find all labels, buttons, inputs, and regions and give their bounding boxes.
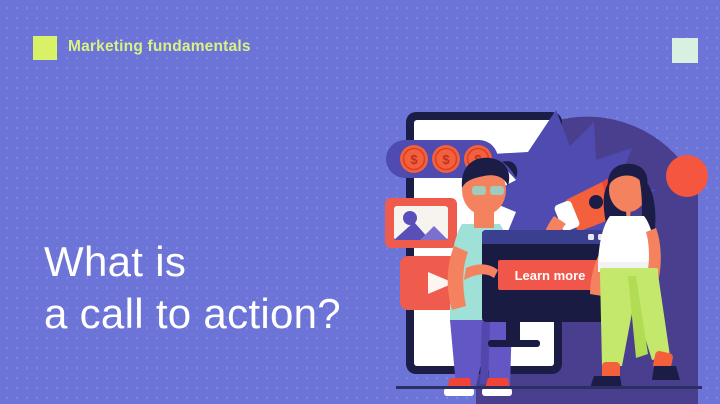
- slide-header: Marketing fundamentals: [0, 0, 720, 92]
- slide-canvas: $ $ $: [0, 0, 720, 404]
- eyebrow-swatch: [33, 36, 57, 60]
- svg-text:$: $: [410, 152, 418, 167]
- ground-line: [396, 386, 702, 389]
- call-to-action-illustration: $ $ $: [370, 70, 720, 404]
- svg-text:$: $: [442, 152, 450, 167]
- learn-more-button-label: Learn more: [515, 268, 586, 283]
- accent-circle: [666, 155, 708, 197]
- slide-headline: What is a call to action?: [44, 236, 341, 340]
- eyebrow-label: Marketing fundamentals: [68, 38, 251, 56]
- photo-icon-sun: [403, 211, 417, 225]
- corner-swatch: [672, 38, 698, 63]
- image-card: [385, 198, 457, 248]
